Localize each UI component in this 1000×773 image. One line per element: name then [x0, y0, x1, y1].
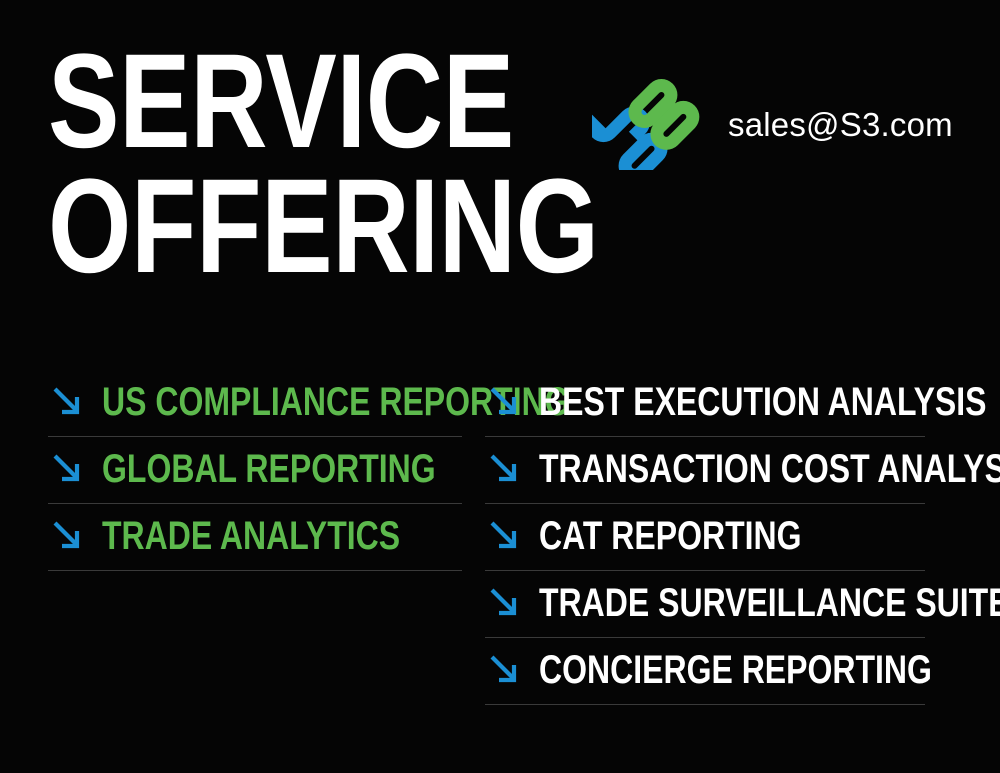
service-label: BEST EXECUTION ANALYSIS: [539, 382, 986, 425]
s3-interlocking-links-logo: [592, 78, 704, 170]
arrow-down-right-icon: [485, 650, 525, 690]
page-title-line-1: SERVICE: [48, 40, 400, 165]
service-label: TRADE ANALYTICS: [102, 516, 400, 559]
service-list-right: BEST EXECUTION ANALYSIS TRANSACTION COST…: [485, 370, 925, 705]
service-label: TRANSACTION COST ANALYSIS: [539, 449, 1000, 492]
service-label: GLOBAL REPORTING: [102, 449, 436, 492]
arrow-down-right-icon: [48, 516, 88, 556]
page-title: SERVICE OFFERING: [48, 40, 488, 289]
contact-email[interactable]: sales@S3.com: [728, 108, 953, 141]
list-item[interactable]: TRADE SURVEILLANCE SUITE: [485, 571, 925, 638]
brand-block: sales@S3.com: [592, 78, 953, 170]
list-item[interactable]: GLOBAL REPORTING: [48, 437, 462, 504]
arrow-down-right-icon: [485, 449, 525, 489]
list-item[interactable]: BEST EXECUTION ANALYSIS: [485, 370, 925, 437]
service-list-left: US COMPLIANCE REPORTING GLOBAL REPORTING…: [48, 370, 462, 571]
list-item[interactable]: TRADE ANALYTICS: [48, 504, 462, 571]
arrow-down-right-icon: [48, 382, 88, 422]
service-label: TRADE SURVEILLANCE SUITE: [539, 583, 1000, 626]
arrow-down-right-icon: [485, 583, 525, 623]
list-item[interactable]: CONCIERGE REPORTING: [485, 638, 925, 705]
arrow-down-right-icon: [485, 516, 525, 556]
list-item[interactable]: TRANSACTION COST ANALYSIS: [485, 437, 925, 504]
service-label: CONCIERGE REPORTING: [539, 650, 932, 693]
list-item[interactable]: US COMPLIANCE REPORTING: [48, 370, 462, 437]
arrow-down-right-icon: [48, 449, 88, 489]
service-label: CAT REPORTING: [539, 516, 802, 559]
arrow-down-right-icon: [485, 382, 525, 422]
page-title-line-2: OFFERING: [48, 165, 400, 290]
service-offering-slide: SERVICE OFFERING sales@S3.com US COMPLIA…: [0, 0, 1000, 773]
list-item[interactable]: CAT REPORTING: [485, 504, 925, 571]
